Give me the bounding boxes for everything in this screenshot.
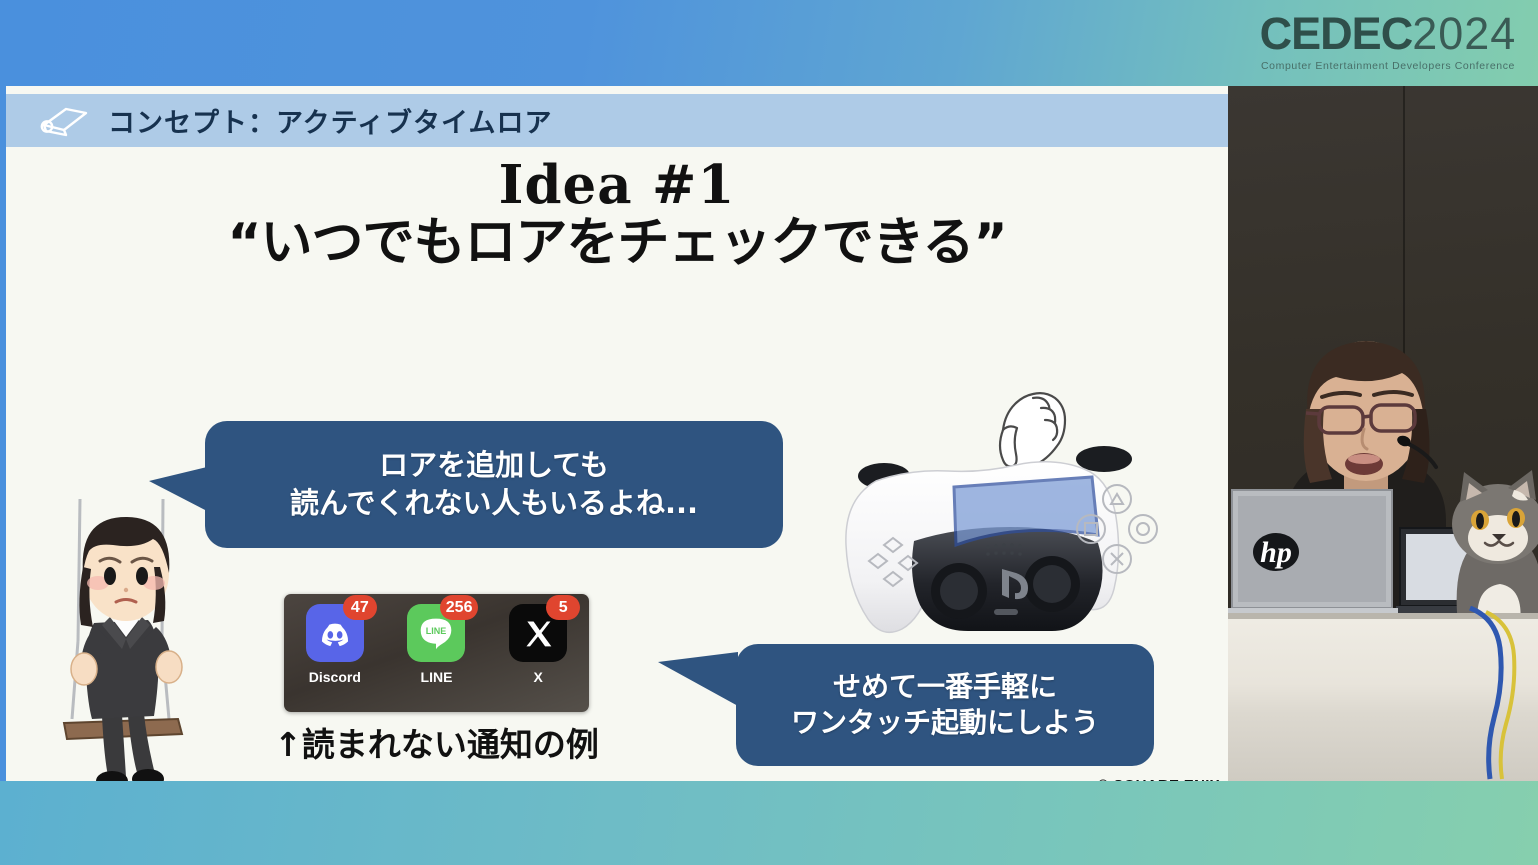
svg-text:hp: hp: [1260, 536, 1292, 569]
problem-bubble-line2: 読んでくれない人もいるよね...: [290, 485, 698, 523]
app-item-line: LINE 256 LINE: [397, 604, 475, 685]
app-item-x: 5 X: [499, 604, 577, 685]
solution-bubble: せめて一番手軽に ワンタッチ起動にしよう: [736, 644, 1154, 766]
cedec-logo-wordmark: CEDEC2024: [1260, 11, 1517, 56]
app-icon-row: 47 Discord LINE 256 LINE: [284, 604, 589, 685]
solution-bubble-line1: せめて一番手軽に: [833, 669, 1057, 705]
cedec-logo-top: CEDEC2024 Computer Entertainment Develop…: [1258, 8, 1518, 74]
sad-woman-on-swing-illustration: [36, 491, 216, 781]
card-tag-icon: [36, 104, 98, 138]
notification-example-image: 47 Discord LINE 256 LINE: [284, 594, 589, 712]
app-label: LINE: [421, 669, 453, 685]
cedec-logo-year: 2024: [1412, 11, 1516, 56]
badge-count: 256: [440, 595, 479, 620]
presentation-slide: コンセプト：アクティブタイムロア Idea #1 “いつでもロアをチェックできる…: [6, 86, 1228, 781]
slide-header-bar: コンセプト：アクティブタイムロア: [6, 94, 1228, 147]
app-item-discord: 47 Discord: [296, 604, 374, 685]
bubble-tail: [149, 467, 207, 511]
app-label: X: [533, 669, 542, 685]
cat-plush-toy: [1446, 464, 1538, 626]
ps5-dualsense-controller: [836, 441, 1186, 656]
bubble-tail: [658, 652, 738, 706]
broadcast-frame: CEDEC2024 Computer Entertainment Develop…: [0, 0, 1538, 865]
network-cable: [1466, 606, 1538, 781]
speaker-camera-feed: hp: [1228, 86, 1538, 781]
slide-title: Idea #1 “いつでもロアをチェックできる”: [6, 158, 1228, 273]
slide-title-line1: Idea #1: [6, 158, 1228, 214]
x-icon: 5: [509, 604, 567, 662]
bottom-banner: [0, 781, 1538, 865]
slide-header-title: コンセプト：アクティブタイムロア: [108, 101, 553, 140]
badge-count: 5: [546, 595, 580, 620]
problem-bubble: ロアを追加しても 読んでくれない人もいるよね...: [205, 421, 783, 548]
solution-bubble-line2: ワンタッチ起動にしよう: [791, 705, 1099, 741]
app-label: Discord: [309, 669, 361, 685]
hp-laptop: hp: [1228, 484, 1398, 624]
notification-caption: ↑読まれない通知の例: [254, 718, 619, 766]
problem-bubble-line1: ロアを追加しても: [379, 447, 609, 485]
svg-text:LINE: LINE: [426, 626, 447, 636]
copyright-notice: © SQUARE ENIX: [1098, 777, 1220, 781]
badge-count: 47: [343, 595, 377, 620]
discord-icon: 47: [306, 604, 364, 662]
hp-logo: hp: [1253, 533, 1299, 571]
top-banner: CEDEC2024 Computer Entertainment Develop…: [0, 0, 1538, 86]
slide-title-line2: “いつでもロアをチェックできる”: [6, 214, 1228, 274]
cedec-logo-tagline: Computer Entertainment Developers Confer…: [1261, 60, 1515, 72]
line-icon: LINE 256: [407, 604, 465, 662]
cedec-logo-name: CEDEC: [1260, 11, 1413, 56]
